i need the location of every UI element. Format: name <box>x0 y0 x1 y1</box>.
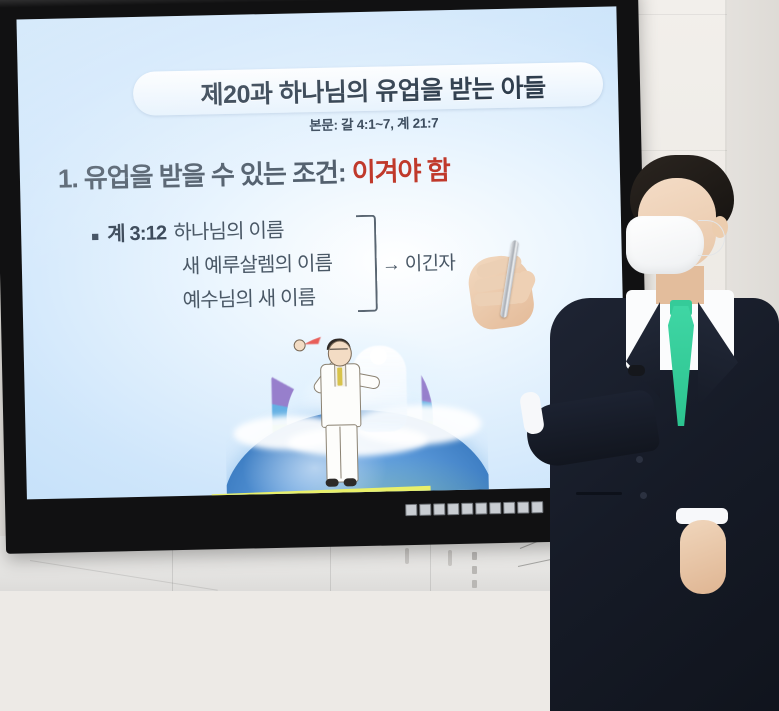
figure-tie <box>337 367 342 385</box>
lapel-microphone-icon <box>628 365 645 376</box>
face-mask-icon <box>626 216 704 274</box>
heading-prefix-text: 1. 유업을 받을 수 있는 조건: <box>58 157 352 193</box>
figure-glasses-icon <box>330 348 348 353</box>
bullet-scripture-reference: 계 3:12 <box>107 216 167 246</box>
presenter-shirt-cuff <box>519 391 545 436</box>
bullet-line-1: 하나님의 이름 <box>173 214 284 245</box>
cabinet-handle-left[interactable] <box>405 548 409 564</box>
bullet-list: ■ 계 3:12 하나님의 이름 새 예루살렘의 이름 예수님의 새 이름 <box>91 213 333 315</box>
cabinet-seam-1 <box>172 548 173 591</box>
white-suit-figure <box>308 340 373 491</box>
figure-legs <box>325 424 358 483</box>
bullet-line-2: 새 예루살렘의 이름 <box>182 247 333 279</box>
suit-button-1 <box>636 456 643 463</box>
bullet-row-3: 예수님의 새 이름 <box>92 281 333 315</box>
figure-shoe-right <box>344 478 357 486</box>
suit-pocket <box>576 492 622 495</box>
presenter-lower-hand <box>680 520 726 594</box>
figure-shoe-left <box>326 479 339 487</box>
bullet-row-2: 새 예루살렘의 이름 <box>92 247 333 281</box>
control-button-1[interactable] <box>405 504 417 516</box>
bullet-marker-icon: ■ <box>91 230 107 243</box>
slide-heading-1: 1. 유업을 받을 수 있는 조건: 이겨야 함 <box>58 150 451 196</box>
bullet-line-3: 예수님의 새 이름 <box>182 281 315 313</box>
suit-button-2 <box>640 492 647 499</box>
grouping-bracket-icon <box>356 215 378 312</box>
bezel-highlight <box>0 0 638 8</box>
cabinet-seam-2 <box>330 545 331 591</box>
bullet-row-1: ■ 계 3:12 하나님의 이름 <box>91 213 332 247</box>
presenter <box>430 120 779 591</box>
